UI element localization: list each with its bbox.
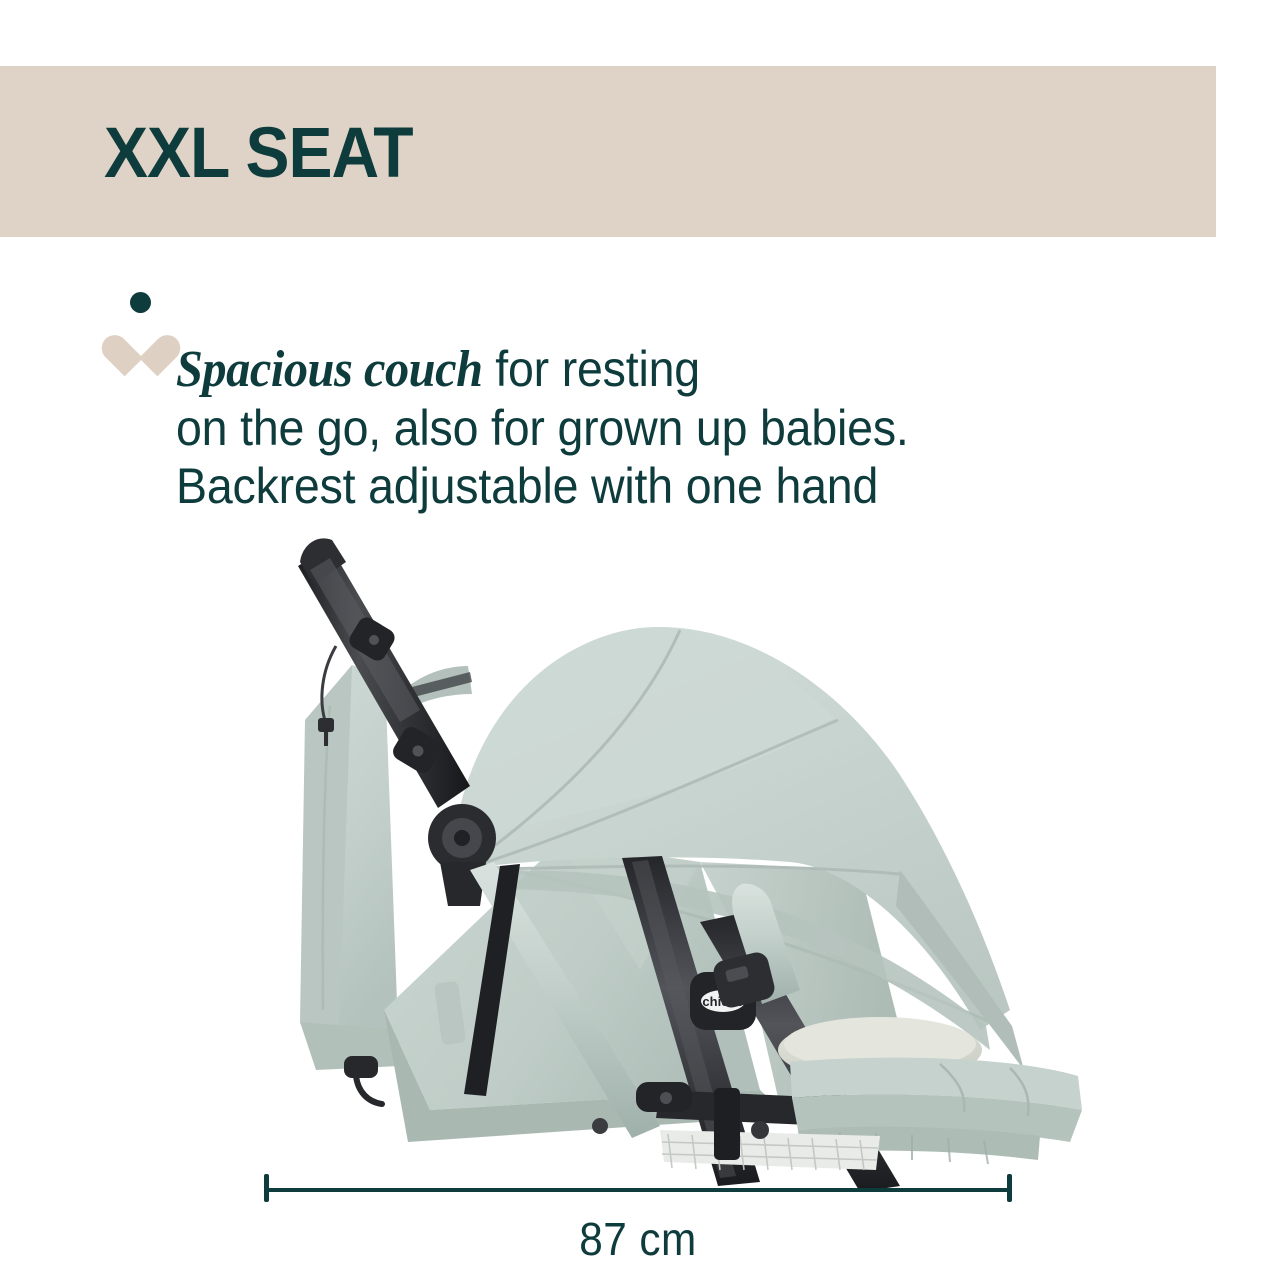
- product-image: chicco: [0, 470, 1280, 1190]
- icon-head-dot: [130, 292, 151, 313]
- dimension-cap-right: [1007, 1174, 1012, 1202]
- dimension-line: [264, 1186, 1012, 1194]
- dimension-bar: [264, 1188, 1012, 1192]
- stroller-illustration: chicco: [0, 470, 1280, 1190]
- basket-mesh: [660, 1130, 880, 1170]
- header-banner: XXL SEAT: [0, 66, 1216, 237]
- dimension-label: 87 cm: [294, 1212, 982, 1266]
- rear-strap-clip: [344, 1056, 382, 1104]
- feature-lead-text: Spacious couch: [176, 341, 483, 398]
- page-title: XXL SEAT: [104, 116, 413, 187]
- baby-person-heart-icon: [104, 288, 176, 368]
- icon-heart-body: [117, 318, 165, 366]
